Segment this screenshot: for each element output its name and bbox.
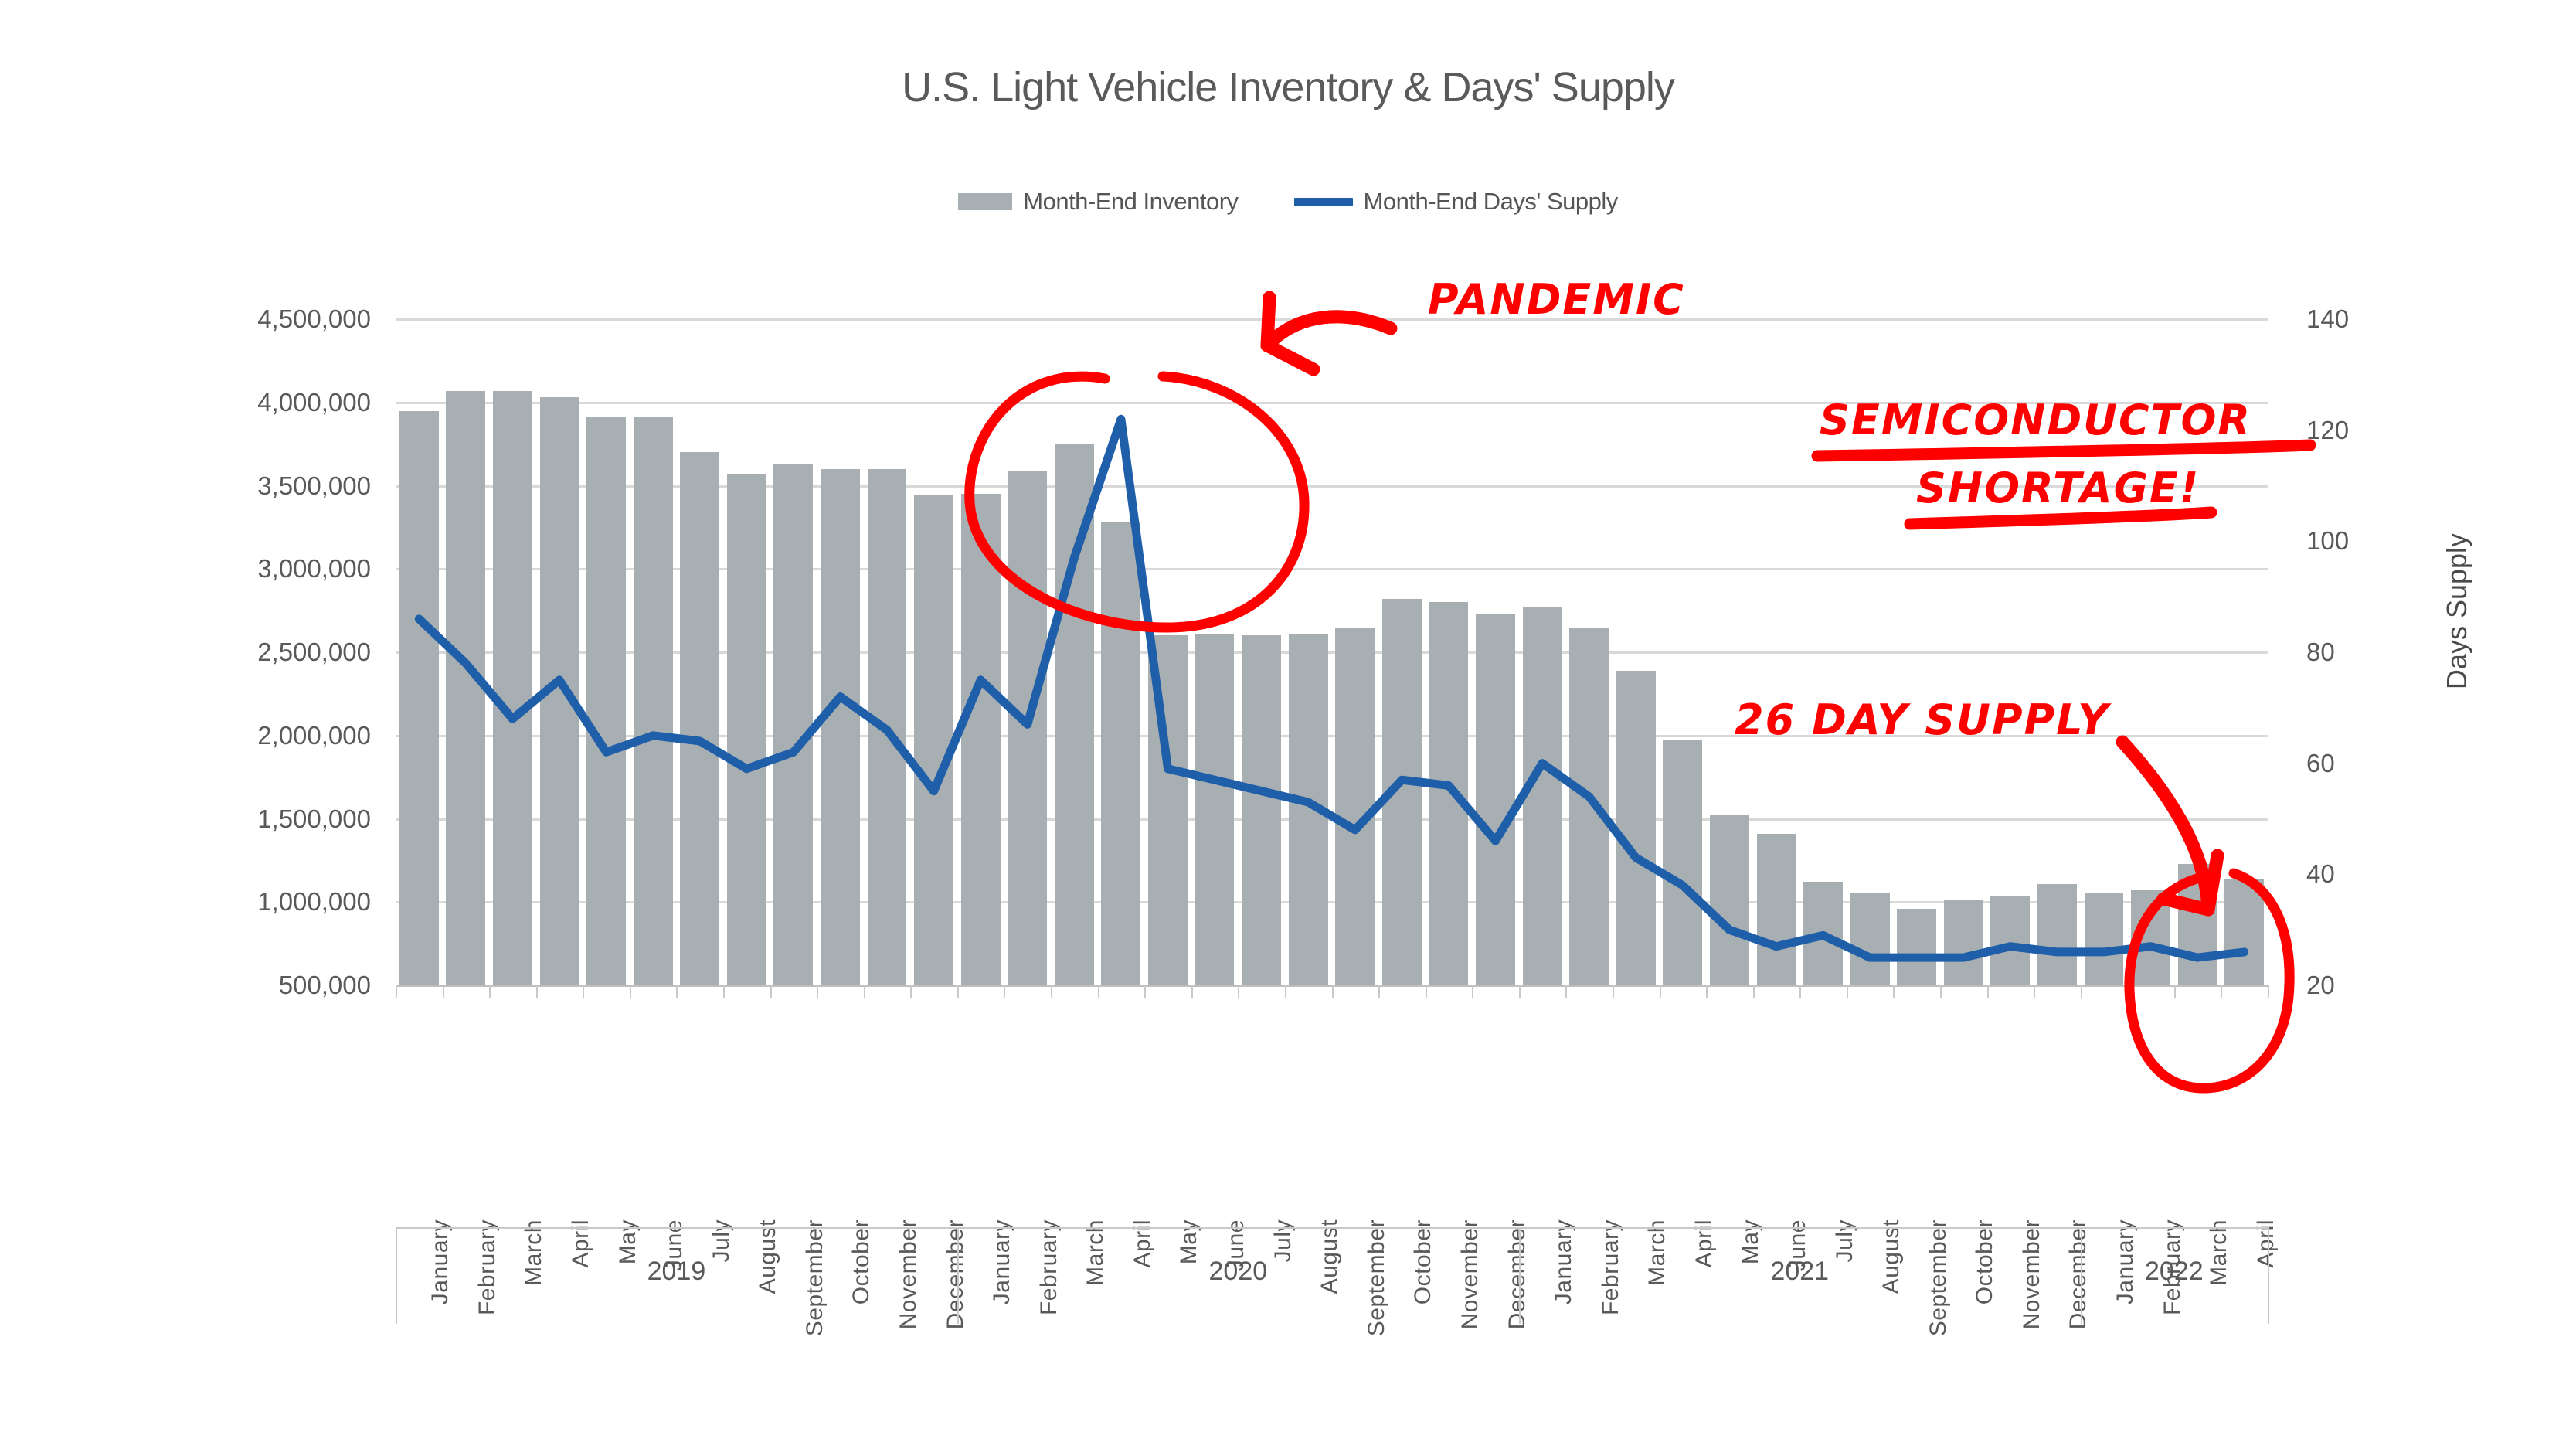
year-label: 2022 xyxy=(2081,1257,2268,1287)
x-axis-tick xyxy=(957,985,959,998)
legend-line-swatch-icon xyxy=(1294,198,1353,206)
y-axis-right-tick-label: 60 xyxy=(2306,749,2335,778)
y-axis-left-tick-label: 500,000 xyxy=(279,971,371,1000)
y-axis-left-tick-label: 1,000,000 xyxy=(257,887,371,917)
x-axis-tick xyxy=(1660,985,1661,998)
chart-legend: Month-End Inventory Month-End Days' Supp… xyxy=(0,188,2576,216)
x-axis-tick xyxy=(396,985,397,998)
x-axis-tick xyxy=(443,985,444,998)
x-axis-tick xyxy=(2081,985,2082,998)
legend-label-days-supply: Month-End Days' Supply xyxy=(1364,188,1618,216)
y-axis-left-tick-label: 2,000,000 xyxy=(257,721,371,750)
y-axis-left-tick-label: 1,500,000 xyxy=(257,804,371,834)
annotation-day-supply-text: 26 DAY SUPPLY xyxy=(1735,696,2109,744)
y-axis-right-title: Days Supply xyxy=(2441,449,2473,774)
x-axis-tick xyxy=(1051,985,1052,998)
x-axis-tick xyxy=(2174,985,2176,998)
year-divider xyxy=(2268,1227,2269,1324)
chart-canvas: U.S. Light Vehicle Inventory & Days' Sup… xyxy=(0,0,2576,1449)
legend-label-inventory: Month-End Inventory xyxy=(1023,188,1238,216)
x-axis-tick xyxy=(1847,985,1848,998)
page-title: U.S. Light Vehicle Inventory & Days' Sup… xyxy=(0,63,2576,111)
x-axis-tick xyxy=(1565,985,1567,998)
x-axis-tick xyxy=(1940,985,1942,998)
x-axis-tick xyxy=(1799,985,1801,998)
x-axis-tick xyxy=(1004,985,1005,998)
x-axis-tick xyxy=(1285,985,1286,998)
x-axis-month-labels: JanuaryFebruaryMarchAprilMayJuneJulyAugu… xyxy=(396,997,2268,1229)
annotation-semiconductor-text-line1: SEMICONDUCTOR xyxy=(1820,396,2251,444)
y-axis-right-tick-label: 100 xyxy=(2306,526,2349,556)
x-axis-tick xyxy=(630,985,631,998)
x-axis-tick xyxy=(1519,985,1521,998)
y-axis-left-tick-label: 4,000,000 xyxy=(257,388,371,417)
x-axis-tick xyxy=(2221,985,2222,998)
x-axis-tick xyxy=(583,985,584,998)
y-axis-right-tick-label: 20 xyxy=(2306,971,2335,1000)
x-axis-tick xyxy=(1426,985,1427,998)
y-axis-left-tick-label: 3,000,000 xyxy=(257,554,371,583)
x-axis-tick xyxy=(2268,985,2269,998)
x-axis-tick xyxy=(1893,985,1895,998)
x-axis-tick xyxy=(1378,985,1380,998)
y-axis-left-tick-label: 3,500,000 xyxy=(257,471,371,501)
y-axis-right-tick-label: 80 xyxy=(2306,638,2335,667)
x-axis-tick xyxy=(1472,985,1473,998)
legend-item-inventory[interactable]: Month-End Inventory xyxy=(958,188,1238,216)
x-axis-tick xyxy=(2127,985,2129,998)
x-axis-tick xyxy=(2034,985,2035,998)
x-axis-tick xyxy=(723,985,725,998)
annotation-semiconductor-text-line2: SHORTAGE! xyxy=(1916,464,2200,512)
y-axis-left-tick-label: 4,500,000 xyxy=(257,304,371,334)
x-axis-tick xyxy=(817,985,818,998)
x-axis-tick xyxy=(1613,985,1614,998)
x-axis-tick xyxy=(1191,985,1193,998)
x-axis-tick xyxy=(770,985,772,998)
x-axis-tick xyxy=(676,985,678,998)
y-axis-left-tick-label: 2,500,000 xyxy=(257,638,371,667)
year-label: 2019 xyxy=(396,1257,957,1287)
x-axis-tick xyxy=(864,985,865,998)
year-label: 2020 xyxy=(957,1257,1519,1287)
y-axis-right-tick-label: 140 xyxy=(2306,304,2349,334)
x-axis-tick xyxy=(910,985,912,998)
year-band-topline xyxy=(396,1227,2268,1229)
x-axis-tick xyxy=(1753,985,1755,998)
legend-item-days-supply[interactable]: Month-End Days' Supply xyxy=(1294,188,1618,216)
x-axis-year-band: 2019202020212022 xyxy=(396,1227,2268,1328)
y-axis-right-tick-label: 120 xyxy=(2306,416,2349,445)
legend-bar-swatch-icon xyxy=(958,193,1012,210)
year-label: 2021 xyxy=(1519,1257,2081,1287)
x-axis-tick xyxy=(1238,985,1239,998)
x-axis-tick xyxy=(1987,985,1989,998)
x-axis-tick xyxy=(536,985,538,998)
x-axis-tick xyxy=(489,985,491,998)
x-axis-tick xyxy=(1706,985,1708,998)
y-axis-right-tick-label: 40 xyxy=(2306,859,2335,889)
annotation-pandemic-text: PANDEMIC xyxy=(1428,275,1685,324)
x-axis-tick xyxy=(1144,985,1146,998)
x-axis-tick xyxy=(1098,985,1099,998)
x-axis-tick xyxy=(1332,985,1334,998)
